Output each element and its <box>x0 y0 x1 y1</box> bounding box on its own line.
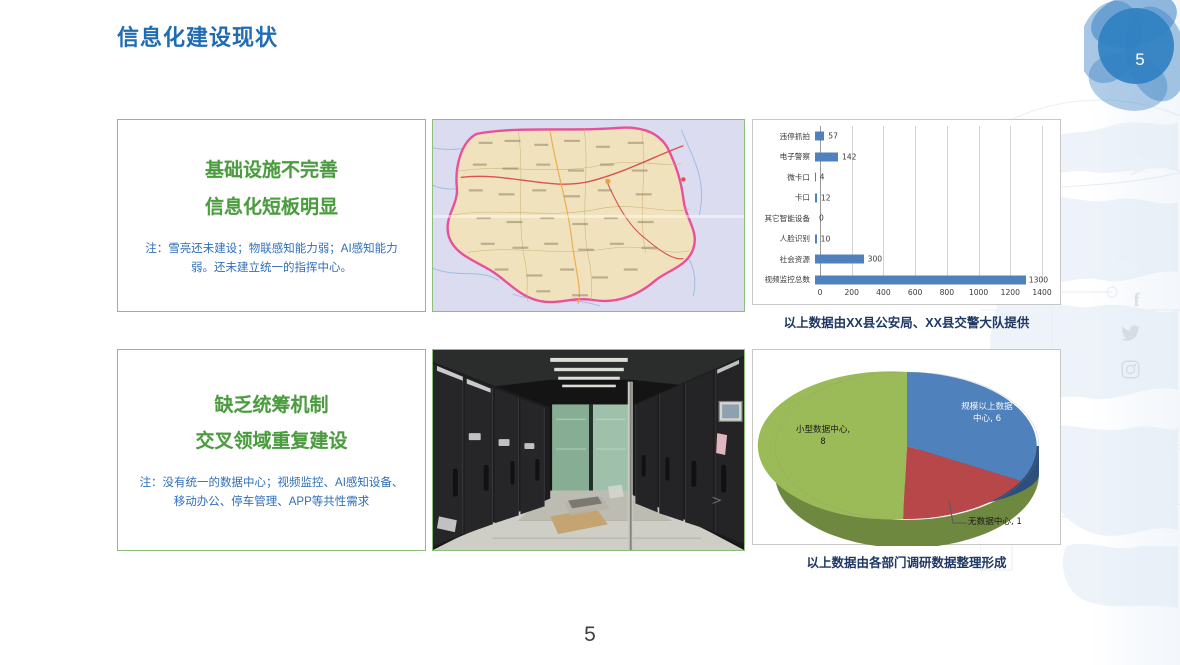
pie-label-blue: 规模以上数据 中心, 6 <box>941 402 1033 425</box>
bar-xtick: 800 <box>940 288 955 297</box>
bar-value-label: 12 <box>821 193 831 202</box>
bar-category-label: 人脸识别 <box>753 233 815 244</box>
pie-label-green-line1: 小型数据中心, <box>796 425 850 435</box>
bar-category-label: 社会资源 <box>753 254 815 265</box>
bar-track: 300 <box>815 249 1042 270</box>
bar-chart-row: 其它智能设备 0 <box>753 208 1042 229</box>
bar-category-label: 违停抓拍 <box>753 131 815 142</box>
issue-card-2-note: 注：没有统一的数据中心；视频监控、AI感知设备、移动办公、停车管理、APP等共性… <box>136 474 406 512</box>
pie-chart-caption: 以上数据由各部门调研数据整理形成 <box>752 552 1061 571</box>
page-number-badge-label: 5 <box>1084 0 1180 112</box>
bar-value-label: 57 <box>828 132 838 141</box>
bar-fill <box>815 132 824 141</box>
facebook-icon: f <box>1134 290 1140 312</box>
bar-chart: 违停抓拍 57 电子警察 142 微卡口 4 <box>752 119 1061 305</box>
bar-fill <box>815 255 864 264</box>
bar-category-label: 微卡口 <box>753 172 815 183</box>
bar-category-label: 视频监控总数 <box>753 274 815 285</box>
bar-value-label: 142 <box>842 152 857 161</box>
bar-chart-row: 电子警察 142 <box>753 147 1042 168</box>
bar-chart-gridline <box>1042 126 1043 282</box>
bar-value-label: 300 <box>868 255 883 264</box>
pie-label-green-line2: 8 <box>820 437 825 447</box>
bar-category-label: 电子警察 <box>753 151 815 162</box>
bar-track: 12 <box>815 188 1042 209</box>
bar-chart-caption: 以上数据由XX县公安局、XX县交警大队提供 <box>752 312 1061 331</box>
bar-track: 4 <box>815 167 1042 188</box>
county-map-image <box>432 119 745 312</box>
pie-label-blue-line2: 中心, 6 <box>973 414 1001 424</box>
bar-xtick: 0 <box>818 288 823 297</box>
bar-chart-row: 微卡口 4 <box>753 167 1042 188</box>
bar-xtick: 1400 <box>1032 288 1051 297</box>
issue-card-2-headline-2: 交叉领域重复建设 <box>195 424 347 460</box>
svg-text:>: > <box>711 493 722 508</box>
bar-fill <box>815 193 817 202</box>
bar-track: 10 <box>815 229 1042 250</box>
bar-track: 142 <box>815 147 1042 168</box>
bar-xtick: 200 <box>844 288 859 297</box>
issue-card-1-headline-2: 信息化短板明显 <box>205 190 338 226</box>
bar-fill <box>815 275 1026 284</box>
bar-track: 0 <box>815 208 1042 229</box>
pie-label-red: 无数据中心, 1 <box>968 517 1022 529</box>
page-title: 信息化建设现状 <box>117 20 278 52</box>
issue-card-coordination: 缺乏统筹机制 交叉领域重复建设 注：没有统一的数据中心；视频监控、AI感知设备、… <box>117 349 426 551</box>
bar-value-label: 1300 <box>1029 275 1048 284</box>
bar-chart-x-axis: 0 200 400 600 800 1000 1200 1400 <box>820 286 1042 300</box>
bar-category-label: 其它智能设备 <box>753 213 815 224</box>
issue-card-2-headline-1: 缺乏统筹机制 <box>214 388 328 424</box>
pie-label-blue-line1: 规模以上数据 <box>961 402 1013 412</box>
issue-card-1-headline-1: 基础设施不完善 <box>205 153 338 189</box>
bar-fill <box>815 234 817 243</box>
issue-card-1-note: 注：雪亮还未建设；物联感知能力弱；AI感知能力弱。还未建立统一的指挥中心。 <box>136 240 406 278</box>
pie-chart: 规模以上数据 中心, 6 小型数据中心, 8 无数据中心, 1 <box>752 349 1061 545</box>
bar-xtick: 1200 <box>1001 288 1020 297</box>
instagram-icon <box>1121 360 1140 384</box>
server-room-photo: > <box>432 349 745 551</box>
bar-category-label: 卡口 <box>753 192 815 203</box>
pie-label-green: 小型数据中心, 8 <box>771 425 875 448</box>
pie-chart-panel: 规模以上数据 中心, 6 小型数据中心, 8 无数据中心, 1 以上数据由各部门… <box>752 349 1061 559</box>
bar-xtick: 1000 <box>969 288 988 297</box>
page-number-badge: 5 <box>1084 0 1180 112</box>
issue-card-infrastructure: 基础设施不完善 信息化短板明显 注：雪亮还未建设；物联感知能力弱；AI感知能力弱… <box>117 119 426 312</box>
bar-fill <box>815 173 816 182</box>
bar-chart-panel: 违停抓拍 57 电子警察 142 微卡口 4 <box>752 119 1061 319</box>
bar-xtick: 600 <box>908 288 923 297</box>
bar-value-label: 4 <box>820 173 825 182</box>
bar-track: 57 <box>815 126 1042 147</box>
bar-chart-row: 卡口 12 <box>753 188 1042 209</box>
bar-value-label: 0 <box>819 214 824 223</box>
twitter-icon <box>1121 325 1140 347</box>
bar-chart-row: 人脸识别 10 <box>753 229 1042 250</box>
bar-chart-row: 违停抓拍 57 <box>753 126 1042 147</box>
footer-page-number: 5 <box>0 623 1180 647</box>
bar-chart-row: 社会资源 300 <box>753 249 1042 270</box>
bar-value-label: 10 <box>821 234 831 243</box>
bar-xtick: 400 <box>876 288 891 297</box>
bar-fill <box>815 152 838 161</box>
